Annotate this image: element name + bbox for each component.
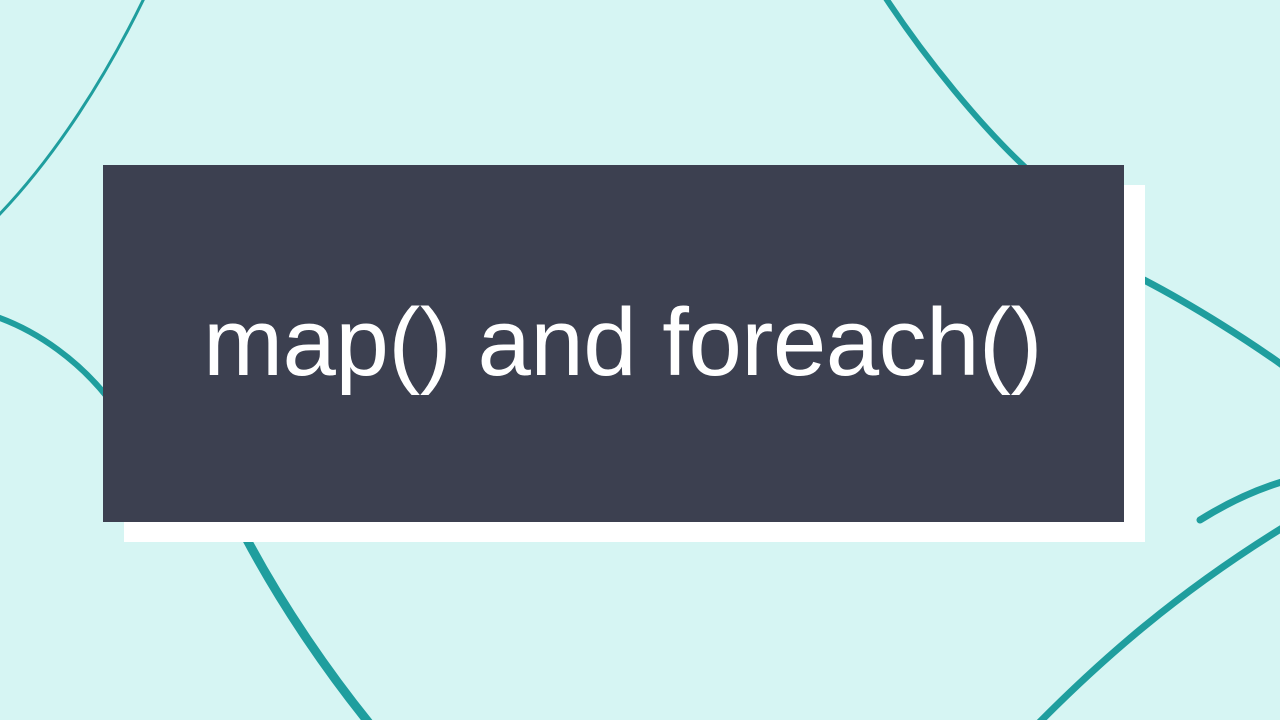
curve-bottom-right-thick xyxy=(1028,522,1280,720)
curve-top-right-thick xyxy=(878,0,1026,168)
curve-bottom-left-thick xyxy=(245,536,378,720)
curve-right-upper xyxy=(1144,280,1280,372)
title-card: map() and foreach() xyxy=(103,165,1124,522)
curve-left-middle xyxy=(0,314,108,398)
curve-right-lower xyxy=(1200,479,1280,520)
presentation-slide: map() and foreach() xyxy=(0,0,1280,720)
slide-title: map() and foreach() xyxy=(185,293,1042,394)
